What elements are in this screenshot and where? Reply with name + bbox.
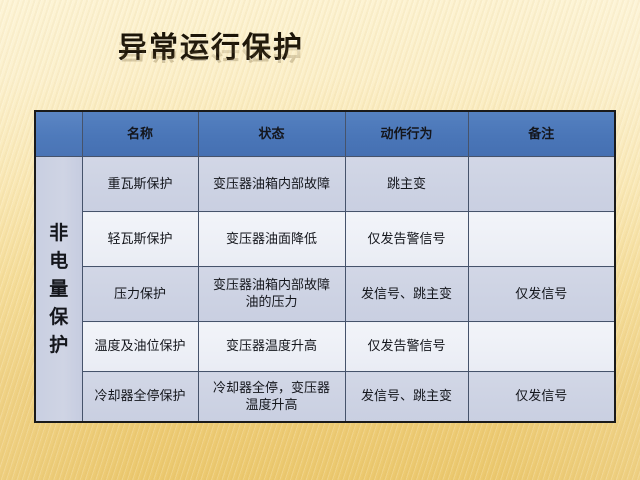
cell-state-line: 温度升高 bbox=[202, 397, 342, 414]
table-row: 压力保护 变压器油箱内部故障 油的压力 发信号、跳主变 仅发信号 bbox=[35, 267, 615, 322]
table-row: 冷却器全停保护 冷却器全停，变压器 温度升高 发信号、跳主变 仅发信号 bbox=[35, 372, 615, 423]
cell-state: 变压器油面降低 bbox=[198, 212, 345, 267]
cell-remark: 仅发信号 bbox=[468, 267, 615, 322]
group-label-char: 电 bbox=[39, 247, 79, 275]
cell-state-line: 变压器油面降低 bbox=[202, 231, 342, 248]
cell-state: 变压器油箱内部故障 油的压力 bbox=[198, 267, 345, 322]
cell-state: 冷却器全停，变压器 温度升高 bbox=[198, 372, 345, 423]
slide-title-block: 异常运行保护 异常运行保护 bbox=[118, 30, 538, 100]
table-header: 名称 状态 动作行为 备注 bbox=[35, 111, 615, 157]
table-row: 非 电 量 保 护 重瓦斯保护 变压器油箱内部故障 跳主变 bbox=[35, 157, 615, 212]
cell-remark bbox=[468, 212, 615, 267]
cell-action: 跳主变 bbox=[345, 157, 468, 212]
cell-name: 冷却器全停保护 bbox=[82, 372, 198, 423]
cell-action: 仅发告警信号 bbox=[345, 322, 468, 372]
cell-remark bbox=[468, 322, 615, 372]
group-label-char: 保 bbox=[39, 303, 79, 331]
slide-canvas: 异常运行保护 异常运行保护 名称 状态 动作行为 备注 bbox=[0, 0, 640, 480]
cell-action-line: 发信号、跳主变 bbox=[349, 388, 465, 405]
protection-table: 名称 状态 动作行为 备注 非 电 量 保 护 bbox=[34, 110, 616, 423]
group-label-vertical: 非 电 量 保 护 bbox=[39, 219, 79, 359]
table-header-row: 名称 状态 动作行为 备注 bbox=[35, 111, 615, 157]
cell-action-line: 仅发告警信号 bbox=[349, 338, 465, 355]
column-header-action: 动作行为 bbox=[345, 111, 468, 157]
cell-state: 变压器油箱内部故障 bbox=[198, 157, 345, 212]
cell-action-line: 仅发告警信号 bbox=[349, 231, 465, 248]
cell-state-line: 变压器油箱内部故障 bbox=[202, 277, 342, 294]
column-header-group bbox=[35, 111, 82, 157]
protection-table-container: 名称 状态 动作行为 备注 非 电 量 保 护 bbox=[34, 110, 614, 423]
cell-name: 轻瓦斯保护 bbox=[82, 212, 198, 267]
cell-name: 温度及油位保护 bbox=[82, 322, 198, 372]
cell-state-line: 变压器油箱内部故障 bbox=[202, 176, 342, 193]
column-header-state: 状态 bbox=[198, 111, 345, 157]
cell-state-line: 油的压力 bbox=[202, 294, 342, 311]
cell-action: 发信号、跳主变 bbox=[345, 267, 468, 322]
table-row: 温度及油位保护 变压器温度升高 仅发告警信号 bbox=[35, 322, 615, 372]
cell-remark: 仅发信号 bbox=[468, 372, 615, 423]
cell-state: 变压器温度升高 bbox=[198, 322, 345, 372]
cell-action-line: 发信号、跳主变 bbox=[349, 286, 465, 303]
group-label-cell: 非 电 量 保 护 bbox=[35, 157, 82, 423]
cell-remark bbox=[468, 157, 615, 212]
cell-remark-line: 仅发信号 bbox=[472, 286, 612, 303]
group-label-char: 护 bbox=[39, 331, 79, 359]
cell-remark-line: 仅发信号 bbox=[472, 388, 612, 405]
group-label-char: 量 bbox=[39, 275, 79, 303]
cell-action-line: 跳主变 bbox=[349, 176, 465, 193]
cell-name: 重瓦斯保护 bbox=[82, 157, 198, 212]
column-header-remark: 备注 bbox=[468, 111, 615, 157]
cell-name: 压力保护 bbox=[82, 267, 198, 322]
table-body: 非 电 量 保 护 重瓦斯保护 变压器油箱内部故障 跳主变 bbox=[35, 157, 615, 423]
cell-action: 发信号、跳主变 bbox=[345, 372, 468, 423]
page-title-reflection: 异常运行保护 bbox=[118, 31, 538, 65]
cell-action: 仅发告警信号 bbox=[345, 212, 468, 267]
group-label-char: 非 bbox=[39, 219, 79, 247]
cell-state-line: 变压器温度升高 bbox=[202, 338, 342, 355]
column-header-name: 名称 bbox=[82, 111, 198, 157]
table-row: 轻瓦斯保护 变压器油面降低 仅发告警信号 bbox=[35, 212, 615, 267]
cell-state-line: 冷却器全停，变压器 bbox=[202, 380, 342, 397]
